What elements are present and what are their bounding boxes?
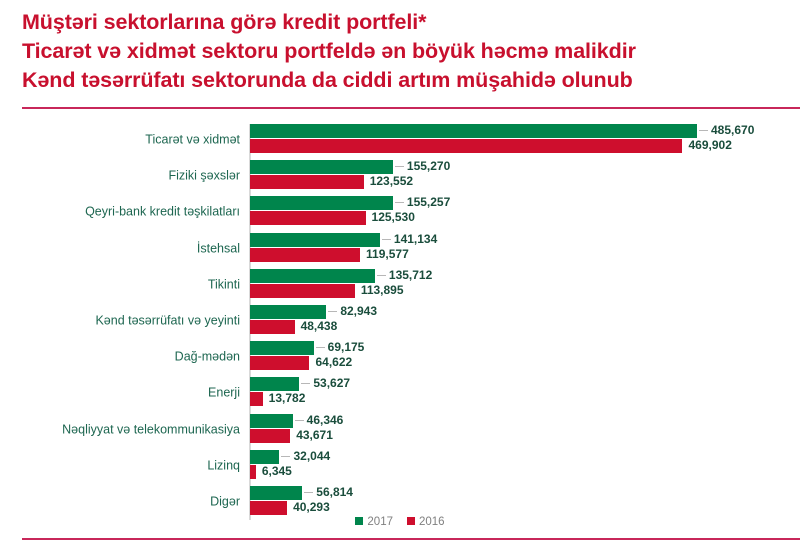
title-line-2: Ticarət və xidmət sektoru portfeldə ən b… bbox=[22, 37, 782, 66]
value-label-2017: 155,270 bbox=[407, 159, 450, 173]
bar-2017[interactable] bbox=[250, 414, 293, 428]
bar-2016[interactable] bbox=[250, 392, 263, 406]
title-line-1: Müştəri sektorlarına görə kredit portfel… bbox=[22, 8, 782, 37]
bar-group: 53,62713,782 bbox=[250, 375, 800, 411]
bar-2016[interactable] bbox=[250, 284, 355, 298]
chart-row: Ticarət və xidmət485,670469,902 bbox=[0, 122, 800, 158]
bar-2017[interactable] bbox=[250, 160, 393, 174]
bar-2017[interactable] bbox=[250, 486, 302, 500]
legend-swatch-icon bbox=[407, 517, 415, 525]
bar-2016[interactable] bbox=[250, 501, 287, 515]
value-label-2016: 48,438 bbox=[301, 319, 338, 333]
value-label-2017: 53,627 bbox=[313, 376, 350, 390]
chart-row: Lizinq32,0446,345 bbox=[0, 448, 800, 484]
chart-row: Digər56,81440,293 bbox=[0, 484, 800, 520]
bar-2017[interactable] bbox=[250, 305, 326, 319]
bar-2017[interactable] bbox=[250, 196, 393, 210]
category-label: İstehsal bbox=[0, 241, 240, 256]
category-label: Kənd təsərrüfatı və yeyinti bbox=[0, 314, 240, 329]
chart-legend: 20172016 bbox=[0, 516, 800, 528]
legend-item[interactable]: 2017 bbox=[355, 516, 393, 528]
category-label: Ticarət və xidmət bbox=[0, 133, 240, 148]
chart-row: Enerji53,62713,782 bbox=[0, 375, 800, 411]
value-label-2017: 485,670 bbox=[711, 123, 754, 137]
value-label-2016: 6,345 bbox=[262, 464, 292, 478]
value-label-2016: 469,902 bbox=[688, 138, 731, 152]
chart-row: İstehsal141,134119,577 bbox=[0, 231, 800, 267]
chart-row: Kənd təsərrüfatı və yeyinti82,94348,438 bbox=[0, 303, 800, 339]
bar-group: 32,0446,345 bbox=[250, 448, 800, 484]
chart-row: Tikinti135,712113,895 bbox=[0, 267, 800, 303]
value-label-2016: 113,895 bbox=[361, 283, 404, 297]
bar-chart: Ticarət və xidmət485,670469,902Fiziki şə… bbox=[0, 118, 800, 518]
leader-line bbox=[395, 202, 404, 203]
bar-group: 141,134119,577 bbox=[250, 231, 800, 267]
chart-row: Qeyri-bank kredit təşkilatları155,257125… bbox=[0, 194, 800, 230]
value-label-2016: 125,530 bbox=[372, 210, 415, 224]
category-label: Qeyri-bank kredit təşkilatları bbox=[0, 205, 240, 220]
bar-2016[interactable] bbox=[250, 429, 290, 443]
leader-line bbox=[382, 239, 391, 240]
legend-label: 2017 bbox=[367, 516, 393, 528]
value-label-2017: 141,134 bbox=[394, 232, 437, 246]
bar-2016[interactable] bbox=[250, 356, 309, 370]
value-label-2017: 69,175 bbox=[328, 340, 365, 354]
leader-line bbox=[377, 275, 386, 276]
legend-item[interactable]: 2016 bbox=[407, 516, 445, 528]
bar-2016[interactable] bbox=[250, 320, 295, 334]
bar-2017[interactable] bbox=[250, 377, 299, 391]
divider-bottom bbox=[22, 538, 800, 540]
chart-title: Müştəri sektorlarına görə kredit portfel… bbox=[22, 8, 782, 95]
value-label-2017: 56,814 bbox=[316, 485, 353, 499]
bar-2016[interactable] bbox=[250, 465, 256, 479]
legend-swatch-icon bbox=[355, 517, 363, 525]
value-label-2017: 135,712 bbox=[389, 268, 432, 282]
bar-group: 485,670469,902 bbox=[250, 122, 800, 158]
value-label-2017: 155,257 bbox=[407, 195, 450, 209]
category-label: Fiziki şəxslər bbox=[0, 169, 240, 184]
leader-line bbox=[699, 130, 708, 131]
leader-line bbox=[316, 347, 325, 348]
chart-row: Nəqliyyat və telekommunikasiya46,34643,6… bbox=[0, 412, 800, 448]
bar-2017[interactable] bbox=[250, 450, 279, 464]
bar-2016[interactable] bbox=[250, 175, 364, 189]
category-label: Nəqliyyat və telekommunikasiya bbox=[0, 422, 240, 437]
bar-group: 82,94348,438 bbox=[250, 303, 800, 339]
value-label-2016: 119,577 bbox=[366, 247, 409, 261]
bar-group: 135,712113,895 bbox=[250, 267, 800, 303]
divider-top bbox=[22, 107, 800, 109]
value-label-2017: 32,044 bbox=[293, 449, 330, 463]
value-label-2016: 43,671 bbox=[296, 428, 333, 442]
leader-line bbox=[328, 311, 337, 312]
value-label-2016: 64,622 bbox=[315, 355, 352, 369]
category-label: Lizinq bbox=[0, 458, 240, 473]
bar-group: 46,34643,671 bbox=[250, 412, 800, 448]
value-label-2017: 46,346 bbox=[307, 413, 344, 427]
leader-line bbox=[295, 420, 304, 421]
leader-line bbox=[395, 166, 404, 167]
legend-label: 2016 bbox=[419, 516, 445, 528]
category-label: Digər bbox=[0, 495, 240, 510]
bar-2017[interactable] bbox=[250, 269, 375, 283]
bar-group: 69,17564,622 bbox=[250, 339, 800, 375]
bar-2017[interactable] bbox=[250, 124, 697, 138]
value-label-2016: 40,293 bbox=[293, 500, 330, 514]
bar-group: 155,257125,530 bbox=[250, 194, 800, 230]
bar-2017[interactable] bbox=[250, 341, 314, 355]
category-label: Enerji bbox=[0, 386, 240, 401]
leader-line bbox=[281, 456, 290, 457]
bar-group: 155,270123,552 bbox=[250, 158, 800, 194]
bar-2016[interactable] bbox=[250, 248, 360, 262]
title-line-3: Kənd təsərrüfatı sektorunda da ciddi art… bbox=[22, 66, 782, 95]
category-label: Tikinti bbox=[0, 277, 240, 292]
bar-2016[interactable] bbox=[250, 211, 366, 225]
bar-2017[interactable] bbox=[250, 233, 380, 247]
chart-row: Dağ-mədən69,17564,622 bbox=[0, 339, 800, 375]
bar-2016[interactable] bbox=[250, 139, 682, 153]
bar-group: 56,81440,293 bbox=[250, 484, 800, 520]
leader-line bbox=[301, 383, 310, 384]
category-label: Dağ-mədən bbox=[0, 350, 240, 365]
leader-line bbox=[304, 492, 313, 493]
chart-row: Fiziki şəxslər155,270123,552 bbox=[0, 158, 800, 194]
value-label-2016: 13,782 bbox=[269, 391, 306, 405]
value-label-2016: 123,552 bbox=[370, 174, 413, 188]
value-label-2017: 82,943 bbox=[340, 304, 377, 318]
